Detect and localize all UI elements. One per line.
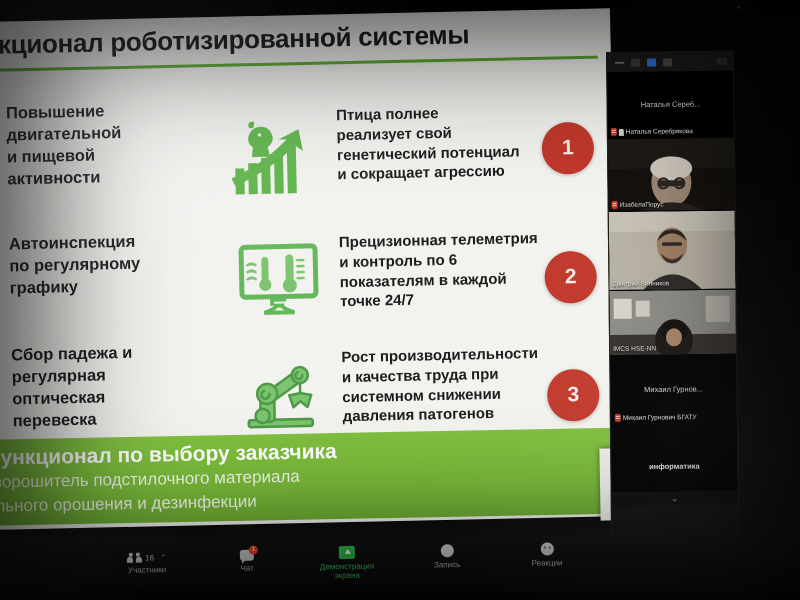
- participant-video-feed: [609, 211, 736, 290]
- record-icon: [440, 541, 453, 557]
- chicken-growth-chart-icon: [216, 115, 322, 203]
- zoom-participants-panel[interactable]: Наталья Сереб... Наталья Серебрякова: [606, 51, 739, 546]
- panel-scroll-down-icon[interactable]: ⌄: [612, 491, 738, 506]
- minimize-dash-icon[interactable]: [615, 61, 624, 63]
- tile-nametag: Михаил Гурнович БГАТУ: [615, 413, 697, 422]
- row-3-left-text: Сбор падежа и регулярная оптическая пере…: [11, 341, 213, 433]
- row-3-right-text: Рост производительности и качества труда…: [341, 343, 568, 427]
- toolbar-label: Запись: [434, 560, 460, 569]
- video-tile[interactable]: информатика: [611, 442, 738, 492]
- share-screen-icon: [339, 543, 355, 559]
- tile-center-name: Наталья Сереб...: [608, 99, 734, 109]
- video-tile[interactable]: Михаил Гурнов... Михаил Гурнович БГАТУ: [610, 355, 737, 443]
- zoom-panel-titlebar[interactable]: [607, 52, 733, 72]
- video-tile[interactable]: Наталья Сереб... Наталья Серебрякова: [607, 71, 734, 139]
- panel-expand-icon[interactable]: [717, 58, 727, 65]
- participants-icon: 16 ⌃: [127, 546, 167, 563]
- grid-view-icon[interactable]: [663, 58, 672, 66]
- tile-nametag: ИзабелаПорус: [612, 200, 664, 209]
- toolbar-item-reactions[interactable]: Реакции: [512, 539, 583, 577]
- status-led: [737, 6, 740, 9]
- toolbar-item-share-screen[interactable]: Демонстрация экрана: [312, 542, 383, 580]
- mic-muted-icon: [615, 414, 621, 422]
- person-icon: [619, 128, 624, 135]
- slide-row-3: Сбор падежа и регулярная оптическая пере…: [0, 328, 617, 342]
- row-2-badge: 2: [544, 251, 597, 304]
- chat-bubble-icon: 1: [240, 545, 254, 561]
- toolbar-label: Чат: [240, 564, 253, 573]
- speaker-view-icon[interactable]: [631, 58, 640, 66]
- video-tile[interactable]: ИзабелаПорус: [608, 138, 735, 212]
- chat-unread-badge: 1: [249, 546, 258, 555]
- toolbar-item-chat[interactable]: 1 Чат: [212, 544, 283, 582]
- mic-muted-icon: [611, 128, 617, 136]
- mic-muted-icon: [612, 201, 618, 209]
- row-1-badge: 1: [541, 122, 594, 175]
- zoom-toolbar: 16 ⌃ Участники 1 Чат Демонстрация экрана: [0, 536, 800, 600]
- photograph-of-monitor: нкционал роботизированной системы Повыше…: [0, 0, 800, 600]
- chevron-up-icon[interactable]: ⌃: [160, 553, 167, 562]
- toolbar-label: Реакции: [532, 558, 563, 568]
- row-1-right-text: Птица полнее реализует свой генетический…: [336, 101, 563, 185]
- monitor-screen: нкционал роботизированной системы Повыше…: [0, 0, 800, 600]
- monitor-thermometer-icon: [227, 235, 333, 323]
- slide-title: нкционал роботизированной системы: [0, 17, 583, 61]
- tile-nametag: Наталья Серебрякова: [611, 127, 693, 136]
- slide-row-1: Повышение двигательной и пищевой активно…: [0, 86, 612, 100]
- slide-footer-band: функционал по выбору заказчика й ворошит…: [0, 428, 616, 526]
- toolbar-label: Участники: [128, 565, 166, 575]
- slide-row-2: Автоинспекция по регулярному графику: [0, 213, 614, 227]
- tile-center-name: информатика: [611, 461, 737, 471]
- reactions-icon: [540, 539, 553, 555]
- participants-count: 16: [145, 553, 154, 562]
- tile-center-name: Михаил Гурнов...: [610, 385, 736, 395]
- row-3-badge: 3: [547, 369, 600, 422]
- tile-nametag: IMCS HSE-NN: [613, 345, 656, 352]
- gallery-view-icon[interactable]: [647, 58, 656, 66]
- row-1-left-text: Повышение двигательной и пищевой активно…: [6, 99, 208, 191]
- video-tile[interactable]: IMCS HSE-NN: [610, 290, 737, 356]
- tile-nametag: Дмитрий Винников: [612, 280, 669, 288]
- toolbar-item-record[interactable]: Запись: [412, 541, 483, 579]
- row-2-right-text: Прецизионная телеметрия и контроль по 6 …: [339, 228, 566, 312]
- robot-arm-icon: [233, 352, 339, 440]
- toolbar-label: Демонстрация экрана: [312, 561, 382, 580]
- video-tile[interactable]: Дмитрий Винников: [609, 211, 736, 291]
- toolbar-item-participants[interactable]: 16 ⌃ Участники: [112, 546, 183, 584]
- row-2-left-text: Автоинспекция по регулярному графику: [9, 230, 210, 300]
